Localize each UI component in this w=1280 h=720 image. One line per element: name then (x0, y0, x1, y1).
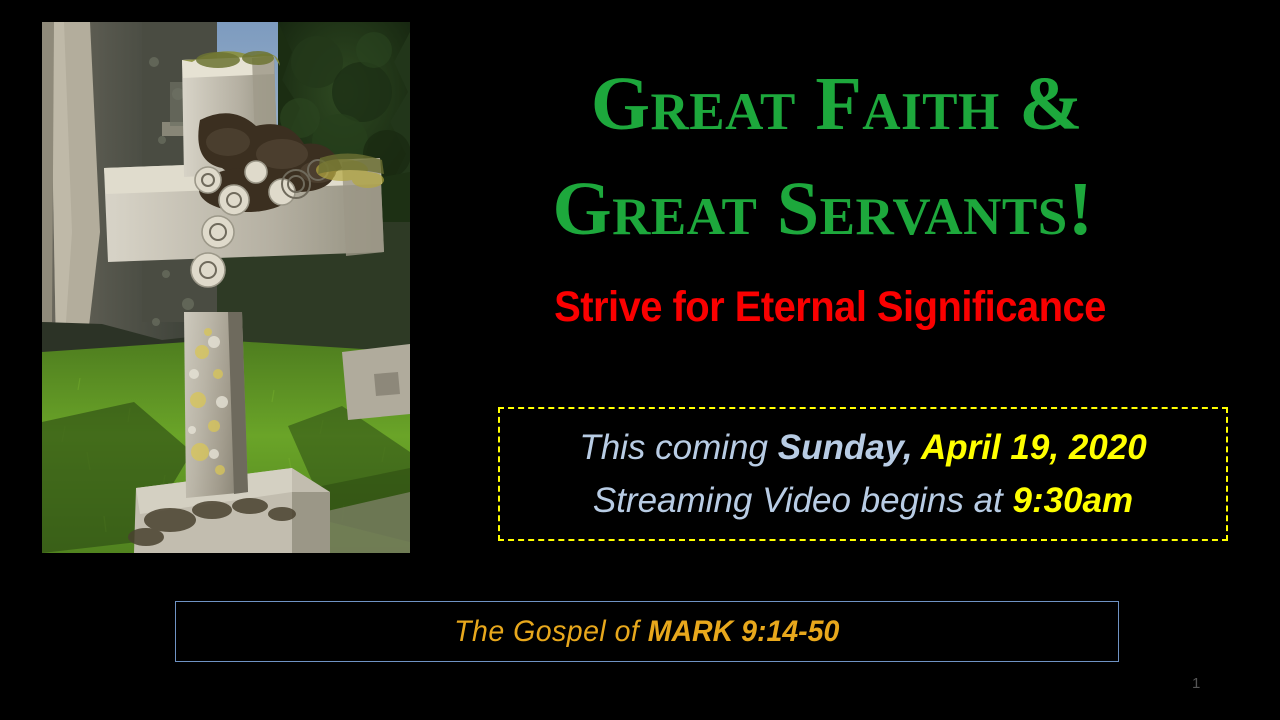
scripture-text: The Gospel of MARK 9:14-50 (454, 615, 839, 649)
scripture-reference-box: The Gospel of MARK 9:14-50 (175, 601, 1119, 662)
announcement-time: 9:30am (1012, 481, 1133, 520)
announcement-box: This coming Sunday, April 19, 2020 Strea… (498, 407, 1228, 541)
stone-cross-gravestone-photo (42, 22, 410, 553)
announcement-stream-text: Streaming Video begins at (593, 481, 1013, 520)
photo-artwork (42, 22, 410, 553)
scripture-prefix: The Gospel of (454, 615, 648, 648)
page-number: 1 (1192, 675, 1200, 692)
scripture-reference: MARK 9:14-50 (648, 615, 840, 648)
title-line-1: Great Faith & (444, 52, 1230, 157)
announcement-day: Sunday, (778, 428, 913, 467)
title-line-2: Great Servants! (416, 157, 1230, 262)
slide-subtitle: Strive for Eternal Significance (458, 283, 1202, 332)
announcement-line-2: Streaming Video begins at 9:30am (593, 474, 1133, 527)
announcement-lead-text: This coming (579, 428, 777, 467)
presentation-slide: Great Faith & Great Servants! Strive for… (0, 0, 1280, 720)
announcement-date: April 19, 2020 (913, 428, 1147, 467)
announcement-line-1: This coming Sunday, April 19, 2020 (579, 421, 1146, 474)
slide-title: Great Faith & Great Servants! (430, 52, 1230, 262)
